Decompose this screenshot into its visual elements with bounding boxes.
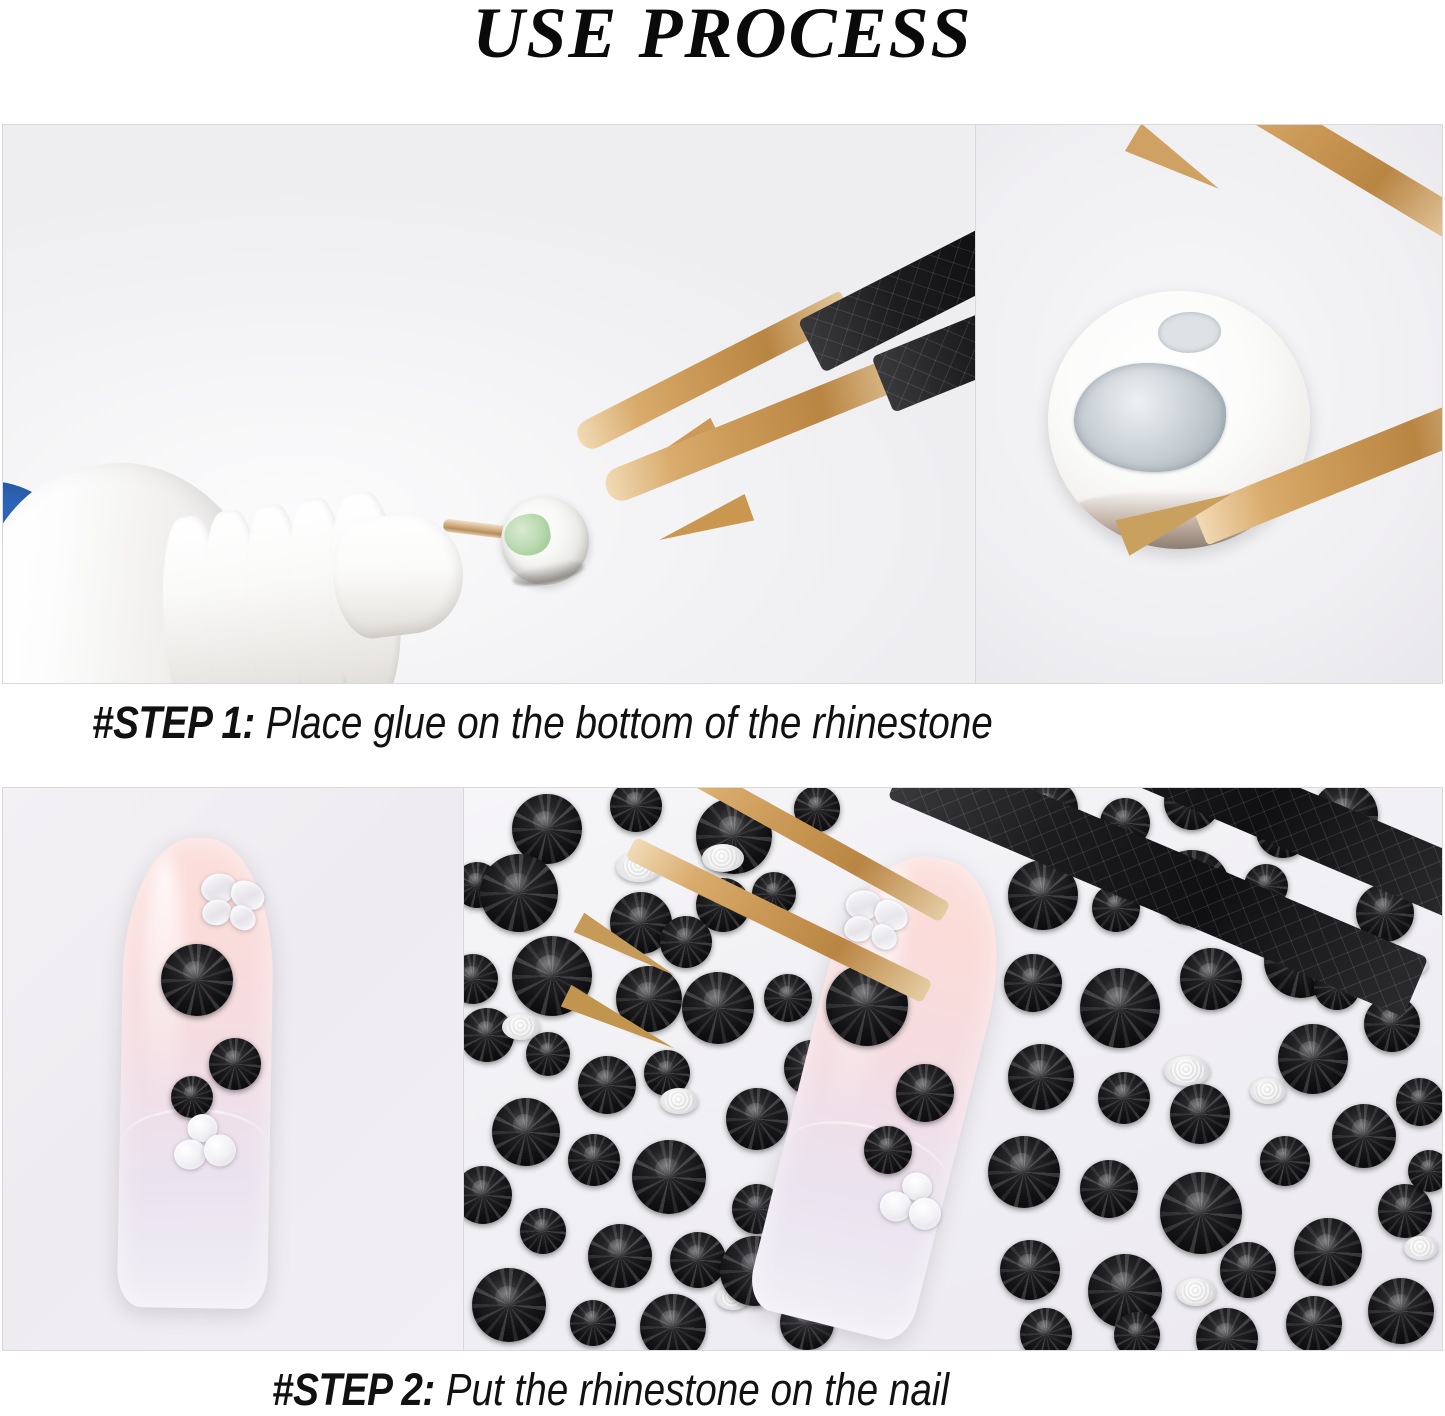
step-1-label: #STEP 1:: [92, 697, 255, 748]
scattered-gem: [1278, 1024, 1348, 1094]
placing-rhinestone-photo: [463, 788, 1442, 1350]
scattered-gem: [1004, 954, 1062, 1012]
scattered-gem: [1080, 1160, 1138, 1218]
scattered-gem: [1396, 1078, 1442, 1126]
scattered-gem: [578, 1056, 636, 1114]
scattered-gem: [472, 1268, 546, 1342]
glue-blob: [1074, 363, 1226, 471]
step-1-text: Place glue on the bottom of the rhinesto…: [255, 697, 993, 748]
black-gem-medium: [896, 1064, 954, 1122]
scattered-gem: [568, 1134, 620, 1186]
scattered-gem: [632, 1140, 706, 1214]
scattered-gem: [1180, 948, 1242, 1010]
scattered-gem: [1294, 1218, 1362, 1286]
scattered-gem: [670, 1232, 726, 1288]
scattered-gem: [1368, 1278, 1434, 1344]
scattered-gem: [1008, 1044, 1074, 1110]
scattered-gem: [1160, 1172, 1242, 1254]
scattered-gem: [1098, 1072, 1150, 1124]
scattered-gem: [1220, 1242, 1276, 1298]
scattered-gem: [1080, 968, 1160, 1048]
black-gem-medium: [209, 1038, 261, 1090]
page-title: USE PROCESS: [0, 0, 1445, 72]
black-gem-small: [171, 1076, 213, 1118]
scattered-gem: [1170, 1084, 1230, 1144]
black-gem-large: [161, 944, 233, 1016]
step-2-caption: #STEP 2: Put the rhinestone on the nail: [272, 1364, 949, 1416]
rhinestone-backside-photo: [975, 125, 1442, 683]
step-2-label: #STEP 2:: [272, 1364, 435, 1415]
scattered-gem: [682, 972, 754, 1044]
step-1-caption: #STEP 1: Place glue on the bottom of the…: [92, 697, 993, 749]
scattered-gem: [1000, 1240, 1060, 1300]
scattered-gem: [988, 1136, 1060, 1208]
glue-smear: [1158, 312, 1221, 353]
scattered-gem: [492, 1098, 560, 1166]
scattered-gem: [1286, 1296, 1342, 1350]
finished-nail-photo: [3, 788, 463, 1350]
scattered-gem: [1378, 1184, 1432, 1238]
scattered-gem: [480, 854, 558, 932]
step-1-image-row: [2, 124, 1443, 684]
scattered-gem: [1332, 1104, 1396, 1168]
scattered-gem: [588, 1224, 652, 1288]
scattered-gem: [726, 1088, 788, 1150]
flower-gem: [170, 1111, 238, 1175]
glue-application-photo: [3, 125, 975, 683]
step-2-image-row: [2, 787, 1443, 1351]
step-2-text: Put the rhinestone on the nail: [435, 1364, 949, 1415]
scattered-gem: [1408, 1150, 1442, 1192]
